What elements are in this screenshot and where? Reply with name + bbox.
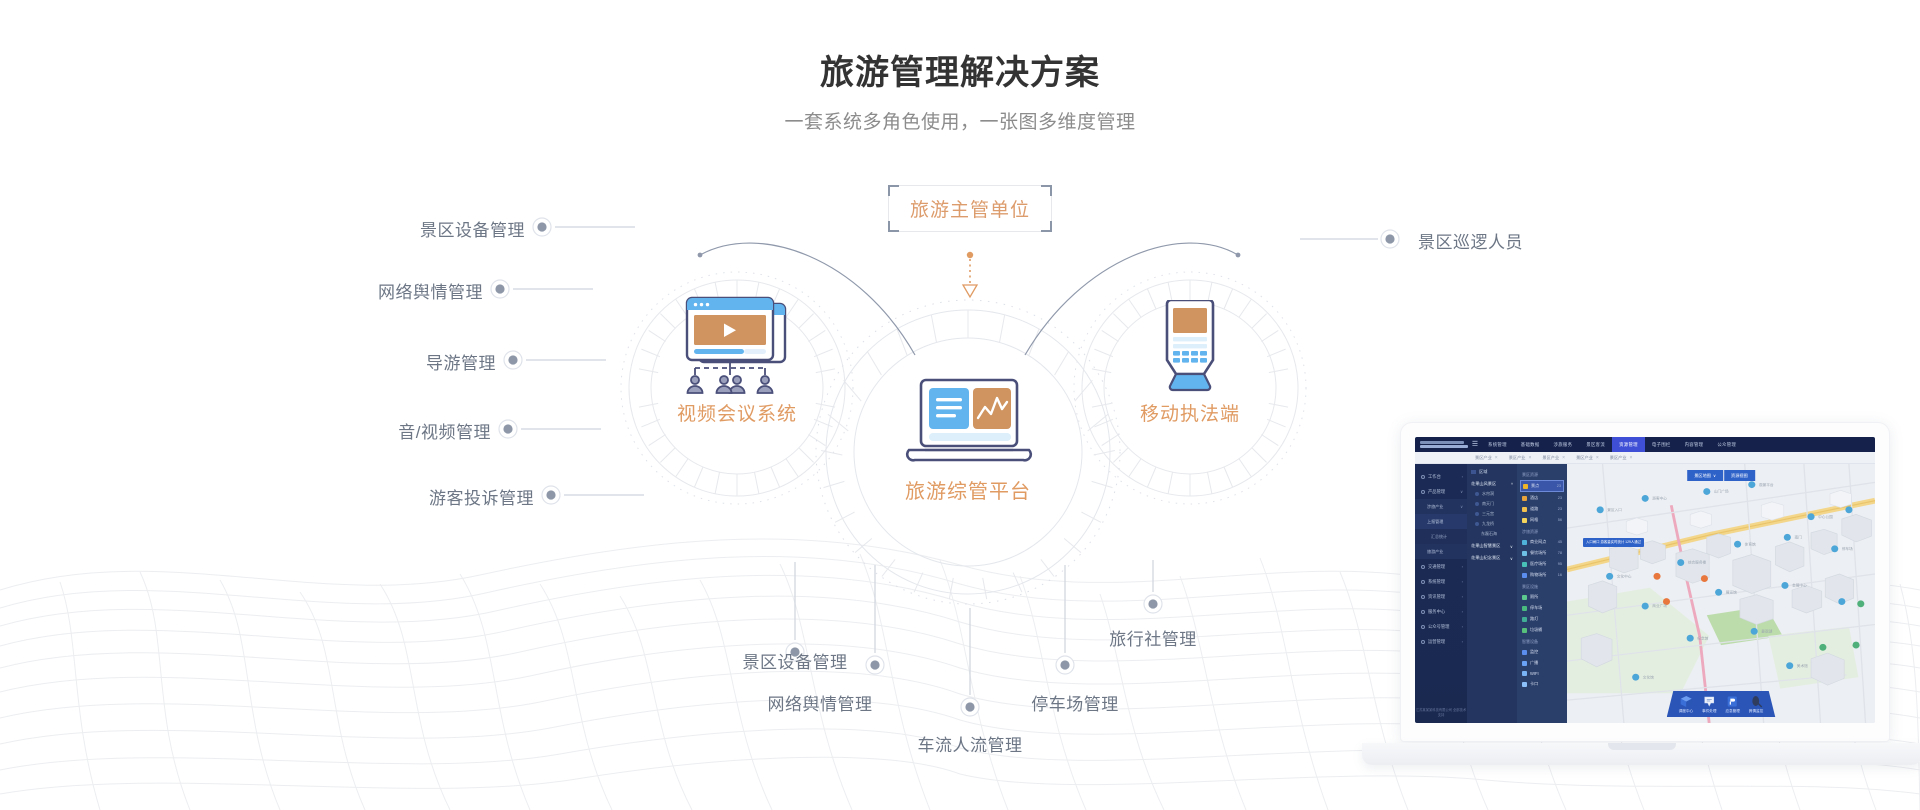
chevron-up-icon: ^ <box>1511 482 1513 487</box>
map-info-callout: 入口闸口 游客量实时统计 129人通过 <box>1583 538 1644 547</box>
resource-view-label: 资源视图 <box>1731 473 1748 479</box>
mock-layer-section-title: 智慧设备 <box>1522 639 1564 645</box>
chevron-right-icon: › <box>1462 609 1463 614</box>
mock-sidebar-item[interactable]: 系统管理 › <box>1415 574 1467 589</box>
sentiment-monitor-icon <box>1750 695 1763 708</box>
authority-connector <box>963 252 977 297</box>
mock-layer-label: 网格 <box>1530 517 1555 523</box>
mock-layer-count: 45 <box>1558 540 1562 544</box>
svg-text:中心公园: 中心公园 <box>1818 514 1833 519</box>
svg-text:景观湖: 景观湖 <box>1761 629 1772 634</box>
svg-text:停车场: 停车场 <box>1842 546 1853 551</box>
mock-layer-row[interactable]: 餐饮场所 78 <box>1520 548 1564 558</box>
mock-layer-row[interactable]: 卡口 <box>1520 679 1564 689</box>
mock-layer-row[interactable]: 购物场所 16 <box>1520 570 1564 580</box>
hotel-icon <box>1522 496 1527 501</box>
corner-bracket-top-right <box>1041 185 1052 196</box>
mock-region-group[interactable]: 花果山纪念景区 ∨ <box>1471 555 1513 561</box>
restaurant-icon <box>1522 551 1527 556</box>
svg-text:文化中心: 文化中心 <box>1617 574 1632 579</box>
mock-body: 工作台 › 产品管理 ∨ 涉旅产业 ∨ 上报管 <box>1415 464 1875 723</box>
spoke-label-left-3[interactable]: 导游管理 <box>378 349 496 374</box>
spoke-label-bottom-1[interactable]: 景区设备管理 <box>720 648 870 673</box>
mock-nav: 系统管理 基础数据 涉旅服务 景区客流 资源管理 电子围栏 内容管理 公众管理 <box>1481 437 1875 452</box>
map-view-label: 景区地图 <box>1694 473 1711 479</box>
road-icon <box>1522 507 1527 512</box>
left-spoke-dots <box>491 218 560 504</box>
mock-layer-row[interactable]: 广播 <box>1520 658 1564 668</box>
gear-icon <box>1421 580 1425 584</box>
mock-region-group[interactable]: 花果山智慧景区 ∨ <box>1471 543 1513 549</box>
mock-layer-label: 医疗场所 <box>1530 561 1555 567</box>
svg-text:景区入口: 景区入口 <box>1607 507 1622 512</box>
bullet-icon <box>1475 512 1479 516</box>
dock-item[interactable]: 调度中心 <box>1679 695 1693 714</box>
mock-layer-section-title: 景区设施 <box>1522 584 1564 590</box>
mock-layer-count: 95 <box>1558 562 1562 566</box>
chevron-down-icon: ∨ <box>1510 544 1513 549</box>
authority-box[interactable]: 旅游主管单位 <box>888 185 1052 232</box>
laptop-mockup: ☰ 系统管理 基础数据 涉旅服务 景区客流 资源管理 电子围栏 内容管理 公众管… <box>1362 412 1920 810</box>
toilet-icon <box>1522 595 1527 600</box>
right-spoke <box>1300 230 1399 248</box>
mock-layer-row[interactable]: 酒店 23 <box>1520 493 1564 503</box>
mock-region-item[interactable]: 九龙桥 <box>1471 521 1513 527</box>
chevron-right-icon: › <box>1462 474 1463 479</box>
mock-region-item-label: 九龙桥 <box>1482 521 1494 527</box>
dispatch-center-icon <box>1679 695 1692 708</box>
grid-icon <box>1421 475 1425 479</box>
mock-topbar: ☰ 系统管理 基础数据 涉旅服务 景区客流 资源管理 电子围栏 内容管理 公众管… <box>1415 437 1875 452</box>
mock-layer-count: 23 <box>1558 507 1562 511</box>
map-view-button[interactable]: 景区地图 ∨ <box>1687 470 1723 481</box>
dock-item-label: 调度中心 <box>1679 709 1693 714</box>
mock-region-header: 区域 <box>1471 469 1513 475</box>
hub-label-mobile-enforcement: 移动执法端 <box>1090 399 1290 426</box>
mock-layer-row[interactable]: 垃圾桶 <box>1520 625 1564 635</box>
authority-label: 旅游主管单位 <box>910 195 1030 222</box>
mock-layer-label: 广播 <box>1530 660 1562 666</box>
mock-region-item-label: 南天门 <box>1482 501 1494 507</box>
mock-sidebar-item[interactable]: 工作台 › <box>1415 469 1467 484</box>
spoke-label-bottom-2[interactable]: 网络舆情管理 <box>745 690 895 715</box>
svg-text:综合服务楼: 综合服务楼 <box>1688 560 1707 565</box>
mock-region-item-label: 水帘洞 <box>1482 491 1494 497</box>
mock-sidebar-label: 上报管理 <box>1427 519 1463 525</box>
mock-sidebar-label: 涉旅产业 <box>1427 504 1460 510</box>
mock-layer-label: 厕所 <box>1530 594 1562 600</box>
mock-region-item-label: 东磊石海 <box>1481 531 1497 537</box>
spoke-label-left-1[interactable]: 景区设备管理 <box>407 216 525 241</box>
mock-layer-row[interactable]: 厕所 <box>1520 592 1564 602</box>
svg-text:体育馆: 体育馆 <box>1745 541 1756 546</box>
mock-region-item[interactable]: 三元宫 <box>1471 511 1513 517</box>
mock-sidebar-label: 旅游产业 <box>1427 549 1463 555</box>
mock-layer-row[interactable]: 医疗场所 95 <box>1520 559 1564 569</box>
chevron-down-icon: ∨ <box>1460 489 1463 494</box>
handheld-device-icon <box>1159 300 1221 397</box>
chevron-right-icon: › <box>1462 624 1463 629</box>
map-view-switch: 景区地图 ∨ 资源视图 <box>1687 470 1755 481</box>
mock-tab-strip: 景区产业 景区产业 景区产业 景区产业 景区产业 <box>1415 452 1875 464</box>
car-icon <box>1421 565 1425 569</box>
mock-layer-label: 停车场 <box>1530 605 1562 611</box>
mock-layer-row[interactable]: 道路 23 <box>1520 504 1564 514</box>
mock-layer-section-title: 涉旅资源 <box>1522 529 1564 535</box>
chevron-down-icon: ∨ <box>1510 556 1513 561</box>
dock-item-label: 事件处理 <box>1702 709 1716 714</box>
mock-nav-item[interactable]: 内容管理 <box>1678 437 1711 452</box>
mock-tab[interactable]: 景区产业 <box>1576 455 1599 461</box>
mock-region-item-label: 三元宫 <box>1482 511 1494 517</box>
news-icon <box>1421 595 1425 599</box>
mock-sidebar-label: 服务中心 <box>1428 609 1462 615</box>
mock-layer-section-title: 景区资源 <box>1522 472 1564 478</box>
chart-icon <box>1421 640 1425 644</box>
mock-nav-item[interactable]: 系统管理 <box>1481 437 1514 452</box>
mock-sidebar: 工作台 › 产品管理 ∨ 涉旅产业 ∨ 上报管 <box>1415 464 1467 723</box>
mock-layer-row[interactable]: 停车场 <box>1520 603 1564 613</box>
mock-nav-item[interactable]: 基础数据 <box>1514 437 1547 452</box>
corner-bracket-bottom-right <box>1041 221 1052 232</box>
dock-item[interactable]: 应急管理 <box>1726 695 1740 714</box>
box-icon <box>1421 490 1425 494</box>
bullet-icon <box>1475 522 1479 526</box>
laptop-lid: ☰ 系统管理 基础数据 涉旅服务 景区客流 资源管理 电子围栏 内容管理 公众管… <box>1400 422 1890 742</box>
mock-layer-label: 道路 <box>1530 506 1555 512</box>
spoke-label-left-4[interactable]: 音/视频管理 <box>373 418 491 443</box>
dock-item-label: 应急管理 <box>1726 709 1740 714</box>
mock-region-panel: 区域 花果山风景区 ^ 水帘洞 南天门 <box>1467 464 1517 723</box>
mock-map-graphics: 景区入口游客中心 山门广场观景平台 中心公园文化中心 综合服务楼体育馆 南门停车… <box>1567 464 1875 723</box>
bullet-icon <box>1475 502 1479 506</box>
mock-layer-row[interactable]: 网格 56 <box>1520 515 1564 525</box>
chevron-down-icon: ∨ <box>1460 504 1463 509</box>
laptop-screen: ☰ 系统管理 基础数据 涉旅服务 景区客流 资源管理 电子围栏 内容管理 公众管… <box>1415 437 1875 723</box>
mock-layer-row[interactable]: WIFI <box>1520 669 1564 678</box>
shopping-icon <box>1522 573 1527 578</box>
mock-tab[interactable]: 景区产业 <box>1542 455 1565 461</box>
spoke-label-bottom-5[interactable]: 旅行社管理 <box>1078 625 1228 650</box>
mock-layer-label: 卡口 <box>1530 681 1562 687</box>
service-icon <box>1421 610 1425 614</box>
dock-item[interactable]: 舆情监控 <box>1749 695 1763 714</box>
mock-layer-row[interactable]: 路灯 <box>1520 614 1564 624</box>
parking-icon <box>1522 606 1527 611</box>
mock-layer-count: 23 <box>1558 496 1562 500</box>
shop-icon <box>1522 540 1527 545</box>
mock-nav-item[interactable]: 电子围栏 <box>1645 437 1678 452</box>
svg-text:商业广场: 商业广场 <box>1652 603 1667 608</box>
bullet-icon <box>1475 492 1479 496</box>
mock-layer-label: 监控 <box>1530 649 1562 655</box>
mock-sidebar-label: 交通管理 <box>1428 564 1462 570</box>
mock-brand-logo <box>1417 438 1469 451</box>
chevron-right-icon: › <box>1462 639 1463 644</box>
mock-map-canvas[interactable]: 景区入口游客中心 山门广场观景平台 中心公园文化中心 综合服务楼体育馆 南门停车… <box>1567 464 1875 723</box>
mock-layer-row[interactable]: 监控 <box>1520 647 1564 657</box>
mock-layer-count: 78 <box>1558 551 1562 555</box>
mock-region-header-label: 区域 <box>1479 469 1487 475</box>
mock-sidebar-subitem[interactable]: 涉旅产业 ∨ <box>1415 499 1467 514</box>
solution-diagram-page: 旅游管理解决方案 一套系统多角色使用，一张图多维度管理 <box>0 0 1920 810</box>
mock-sidebar-label: 产品管理 <box>1428 489 1460 495</box>
mock-sidebar-item[interactable]: 公众号管理 › <box>1415 619 1467 634</box>
mock-nav-item[interactable]: 景区客流 <box>1579 437 1612 452</box>
spoke-label-left-2[interactable]: 网络舆情管理 <box>365 278 483 303</box>
corner-bracket-bottom-left <box>888 221 899 232</box>
mock-layer-label: 路灯 <box>1530 616 1562 622</box>
svg-text:观景平台: 观景平台 <box>1759 482 1774 487</box>
mock-sidebar-item[interactable]: 运营管理 › <box>1415 634 1467 649</box>
trashbin-icon <box>1522 628 1527 633</box>
spoke-label-bottom-4[interactable]: 停车场管理 <box>1000 690 1150 715</box>
svg-text:美术馆: 美术馆 <box>1797 663 1808 668</box>
hub-label-video-conference: 视频会议系统 <box>637 399 837 426</box>
camera-icon <box>1522 650 1527 655</box>
svg-text:南门: 南门 <box>1794 535 1802 540</box>
speaker-icon <box>1522 661 1527 666</box>
wifi-icon <box>1522 671 1527 676</box>
scenic-spot-icon <box>1523 484 1528 489</box>
mock-region-item[interactable]: 水帘洞 <box>1471 491 1513 497</box>
mock-sidebar-subitem[interactable]: 汇总统计 <box>1415 529 1467 544</box>
mock-sidebar-subitem-active[interactable]: 上报管理 <box>1415 514 1467 529</box>
mock-sidebar-item[interactable]: 服务中心 › <box>1415 604 1467 619</box>
svg-text:山门广场: 山门广场 <box>1714 489 1729 494</box>
mock-sidebar-item[interactable]: 资讯管理 › <box>1415 589 1467 604</box>
mock-sidebar-label: 汇总统计 <box>1431 534 1463 540</box>
mock-layer-label: 商业网点 <box>1530 539 1555 545</box>
svg-text:游客中心: 游客中心 <box>1652 496 1667 501</box>
mock-layer-count: 56 <box>1558 518 1562 522</box>
mock-layer-label: 购物场所 <box>1530 572 1555 578</box>
video-window-icon <box>673 296 801 399</box>
mock-sidebar-label: 公众号管理 <box>1428 624 1462 630</box>
mock-layer-label: 餐饮场所 <box>1530 550 1555 556</box>
spoke-label-left-5[interactable]: 游客投诉管理 <box>416 484 534 509</box>
svg-text:展览馆: 展览馆 <box>1726 590 1737 595</box>
svg-text:纪念馆: 纪念馆 <box>1697 635 1708 640</box>
mock-layers-panel: 景区资源 景点 23 酒店 23 道路 <box>1517 464 1567 723</box>
mock-layer-label: 景点 <box>1531 483 1554 489</box>
mock-sidebar-item[interactable]: 产品管理 ∨ <box>1415 484 1467 499</box>
chevron-down-icon: ∨ <box>1713 473 1716 478</box>
mock-layer-row[interactable]: 商业网点 45 <box>1520 537 1564 547</box>
mock-tab[interactable]: 景区产业 <box>1475 455 1498 461</box>
chevron-right-icon: › <box>1462 579 1463 584</box>
mock-layer-row-selected[interactable]: 景点 23 <box>1520 480 1564 492</box>
hub-label-tourism-platform: 旅游综管平台 <box>868 475 1068 504</box>
mock-tab[interactable]: 景区产业 <box>1509 455 1532 461</box>
mock-region-group-label: 花果山智慧景区 <box>1471 543 1500 549</box>
chevron-right-icon: › <box>1462 564 1463 569</box>
map-bottom-dock: 调度中心 事件处理 <box>1667 691 1776 717</box>
laptop-notch <box>1608 743 1676 750</box>
mock-sidebar-subitem[interactable]: 旅游产业 <box>1415 544 1467 559</box>
svg-text:会展中心: 会展中心 <box>1792 583 1807 588</box>
spoke-label-bottom-3[interactable]: 车流人流管理 <box>895 731 1045 756</box>
mock-region-item[interactable]: 东磊石海 <box>1471 531 1513 537</box>
mock-sidebar-label: 资讯管理 <box>1428 594 1462 600</box>
laptop-dashboard-icon <box>903 378 1035 477</box>
event-handling-icon <box>1703 695 1716 708</box>
mock-layer-label: 酒店 <box>1530 495 1555 501</box>
mock-region-group[interactable]: 花果山风景区 ^ <box>1471 481 1513 487</box>
medical-icon <box>1522 562 1527 567</box>
mock-sidebar-item[interactable]: 交通管理 › <box>1415 559 1467 574</box>
chevron-right-icon: › <box>1462 594 1463 599</box>
user-icon <box>1421 625 1425 629</box>
mock-layer-count: 23 <box>1557 484 1561 488</box>
mock-nav-item-active[interactable]: 资源管理 <box>1612 437 1645 452</box>
streetlight-icon <box>1522 617 1527 622</box>
emergency-management-icon <box>1726 695 1739 708</box>
list-icon <box>1471 470 1476 474</box>
spoke-label-right-1[interactable]: 景区巡逻人员 <box>1418 228 1523 253</box>
mock-sidebar-label: 系统管理 <box>1428 579 1462 585</box>
grid-cell-icon <box>1522 518 1527 523</box>
mock-nav-item[interactable]: 公众管理 <box>1710 437 1743 452</box>
mock-tab[interactable]: 景区产业 <box>1610 455 1633 461</box>
mock-sidebar-label: 运营管理 <box>1428 639 1462 645</box>
corner-bracket-top-left <box>888 185 899 196</box>
mock-layer-label: WIFI <box>1530 671 1562 676</box>
dock-item[interactable]: 事件处理 <box>1702 695 1716 714</box>
mock-layer-label: 垃圾桶 <box>1530 627 1562 633</box>
svg-text:文化馆: 文化馆 <box>1643 674 1654 679</box>
resource-view-button[interactable]: 资源视图 <box>1724 470 1755 481</box>
hamburger-icon[interactable]: ☰ <box>1469 437 1481 452</box>
mock-sidebar-footer: 江苏某某某科技有限公司 全部技术支持 <box>1415 708 1467 718</box>
dock-item-label: 舆情监控 <box>1749 709 1763 714</box>
mock-region-group-label: 花果山纪念景区 <box>1471 555 1500 561</box>
mock-nav-item[interactable]: 涉旅服务 <box>1547 437 1580 452</box>
mock-region-group-label: 花果山风景区 <box>1471 481 1496 487</box>
mock-layer-count: 16 <box>1558 573 1562 577</box>
mock-region-item[interactable]: 南天门 <box>1471 501 1513 507</box>
mock-sidebar-label: 工作台 <box>1428 474 1462 480</box>
checkpoint-icon <box>1522 682 1527 687</box>
